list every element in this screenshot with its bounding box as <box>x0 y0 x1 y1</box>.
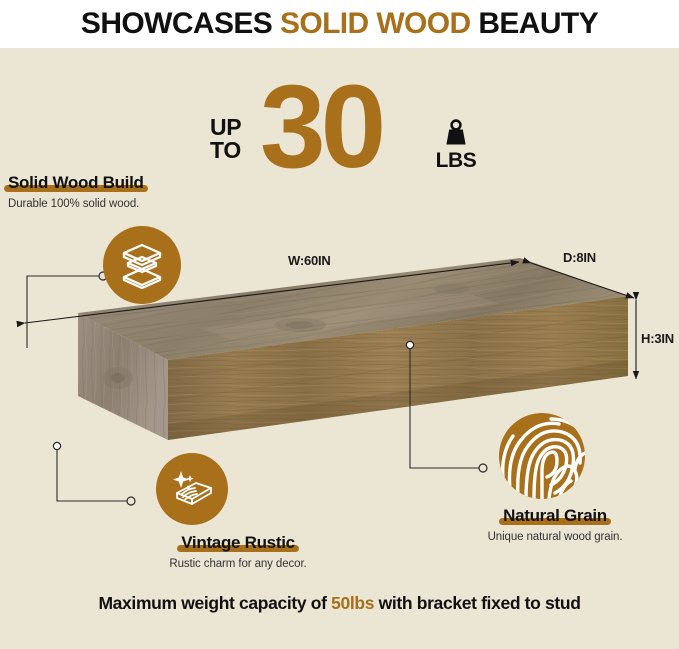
weight-icon <box>441 118 471 148</box>
feature-subtitle: Unique natural wood grain. <box>455 531 655 543</box>
wood-plank-sparkle-icon <box>168 465 216 513</box>
stacked-wood-slabs-icon <box>117 240 167 290</box>
natural-grain-icon-circle <box>499 413 585 499</box>
to-label: TO <box>210 139 241 162</box>
solid-wood-icon-circle <box>103 226 181 304</box>
page-title-part1: SHOWCASES <box>81 7 280 40</box>
feature-title: Solid Wood Build <box>8 173 144 192</box>
header-bar: SHOWCASES SOLID WOOD BEAUTY <box>0 0 679 48</box>
vintage-icon-circle <box>156 453 228 525</box>
feature-title: Vintage Rustic <box>181 533 295 552</box>
connector-solid-wood <box>27 272 107 348</box>
feature-subtitle: Rustic charm for any decor. <box>118 558 358 570</box>
natural-grain-text-group: Natural Grain Unique natural wood grain. <box>455 506 655 543</box>
vintage-text-group: Vintage Rustic Rustic charm for any deco… <box>118 533 358 570</box>
connector-natural-grain <box>406 341 487 472</box>
lbs-group: LBS <box>425 118 487 173</box>
weight-capacity-callout: UP TO 30 LBS <box>205 78 485 193</box>
wood-grain-swirl-icon <box>499 413 585 499</box>
lbs-label: LBS <box>425 149 487 173</box>
feature-title: Natural Grain <box>503 506 607 525</box>
capacity-number: 30 <box>260 68 381 186</box>
vintage-title-wrap: Vintage Rustic <box>181 533 295 553</box>
grain-title-wrap: Natural Grain <box>503 506 607 526</box>
connector-vintage-rustic <box>53 442 135 505</box>
solid-wood-title-wrap: Solid Wood Build <box>8 173 144 193</box>
up-to-label: UP TO <box>210 116 241 162</box>
page-title: SHOWCASES SOLID WOOD BEAUTY <box>81 9 598 39</box>
page-title-accent: SOLID WOOD <box>280 7 471 40</box>
banner-suffix: with bracket fixed to stud <box>374 593 580 613</box>
capacity-banner: Maximum weight capacity of 50lbs with br… <box>0 593 679 614</box>
banner-text: Maximum weight capacity of 50lbs with br… <box>0 593 679 614</box>
up-label: UP <box>210 116 241 139</box>
feature-solid-wood-build: Solid Wood Build Durable 100% solid wood… <box>8 173 144 210</box>
banner-accent: 50lbs <box>331 593 374 613</box>
feature-subtitle: Durable 100% solid wood. <box>8 198 144 210</box>
page-title-part2: BEAUTY <box>471 7 598 40</box>
infographic-panel: W:60IN D:8IN H:3IN <box>0 48 679 649</box>
banner-prefix: Maximum weight capacity of <box>98 593 331 613</box>
